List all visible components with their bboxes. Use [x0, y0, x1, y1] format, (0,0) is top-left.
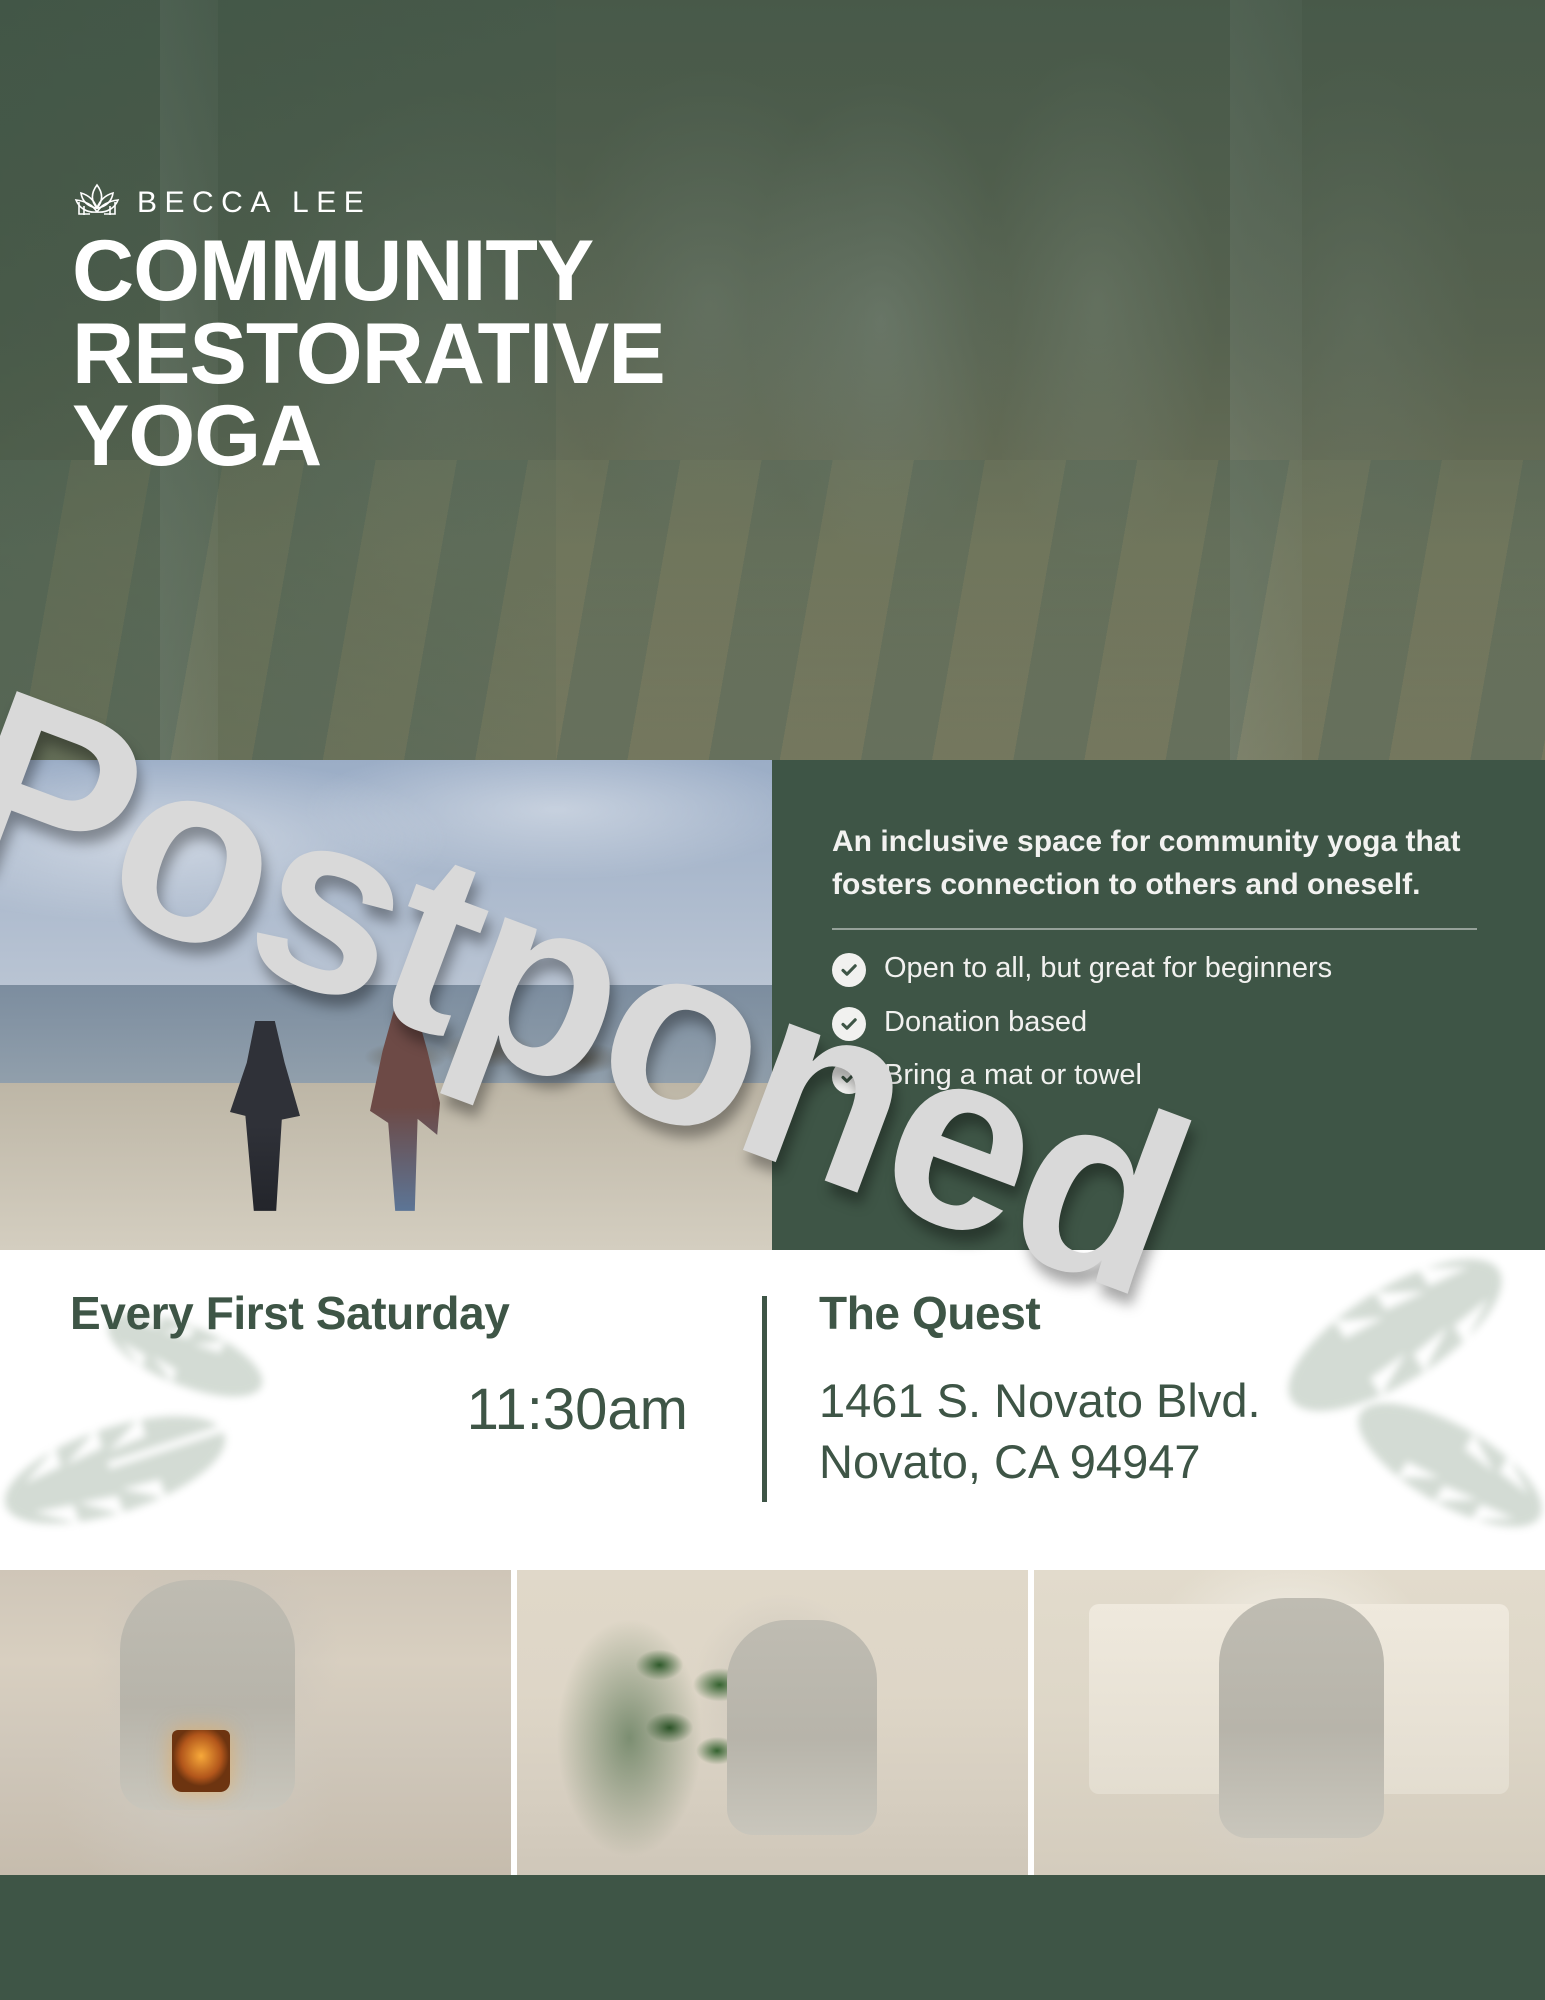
feature-label: Donation based [884, 1004, 1087, 1042]
schedule-frequency: Every First Saturday [70, 1286, 710, 1340]
description-paragraph: An inclusive space for community yoga th… [832, 820, 1472, 906]
poster-root: BECCA LEE COMMUNITY RESTORATIVE YOGA An … [0, 0, 1545, 2000]
vertical-divider [762, 1296, 767, 1502]
info-bar: Every First Saturday 11:30am The Quest 1… [0, 1250, 1545, 1570]
info-content: Every First Saturday 11:30am The Quest 1… [0, 1250, 1545, 1570]
middle-section: An inclusive space for community yoga th… [0, 760, 1545, 1250]
schedule-block: Every First Saturday 11:30am [70, 1286, 710, 1570]
venue-address-line-1: 1461 S. Novato Blvd. [819, 1370, 1475, 1431]
feature-label: Bring a mat or towel [884, 1057, 1142, 1095]
candle-icon [172, 1730, 230, 1792]
check-circle-icon [832, 953, 866, 987]
brand-lockup: BECCA LEE [74, 182, 371, 224]
list-item: Donation based [832, 1004, 1485, 1042]
title-line-3: YOGA [72, 395, 665, 478]
photo-candle-meditation [0, 1570, 511, 1875]
beach-photo [0, 760, 772, 1250]
footer-bar [0, 1875, 1545, 2000]
brand-name: BECCA LEE [137, 186, 371, 220]
feature-list: Open to all, but great for beginners Don… [832, 950, 1485, 1095]
description-panel: An inclusive space for community yoga th… [772, 760, 1545, 1250]
beach-sky [0, 760, 772, 985]
photo-sofa-meditation [1034, 1570, 1545, 1875]
title-line-2: RESTORATIVE [72, 313, 665, 396]
description-divider [832, 928, 1477, 930]
person-silhouette [727, 1620, 877, 1835]
page-title: COMMUNITY RESTORATIVE YOGA [72, 230, 665, 478]
venue-block: The Quest 1461 S. Novato Blvd. Novato, C… [819, 1286, 1475, 1570]
schedule-time: 11:30am [70, 1376, 710, 1443]
list-item: Open to all, but great for beginners [832, 950, 1485, 988]
photo-strip [0, 1570, 1545, 1875]
check-circle-icon [832, 1060, 866, 1094]
list-item: Bring a mat or towel [832, 1057, 1485, 1095]
check-circle-icon [832, 1007, 866, 1041]
venue-address: 1461 S. Novato Blvd. Novato, CA 94947 [819, 1370, 1475, 1492]
person-silhouette [1219, 1598, 1384, 1838]
lotus-icon [74, 182, 120, 224]
venue-name: The Quest [819, 1286, 1475, 1340]
hero-section: BECCA LEE COMMUNITY RESTORATIVE YOGA [0, 0, 1545, 760]
feature-label: Open to all, but great for beginners [884, 950, 1332, 988]
photo-tea-meditation [517, 1570, 1028, 1875]
title-line-1: COMMUNITY [72, 230, 665, 313]
venue-address-line-2: Novato, CA 94947 [819, 1431, 1475, 1492]
